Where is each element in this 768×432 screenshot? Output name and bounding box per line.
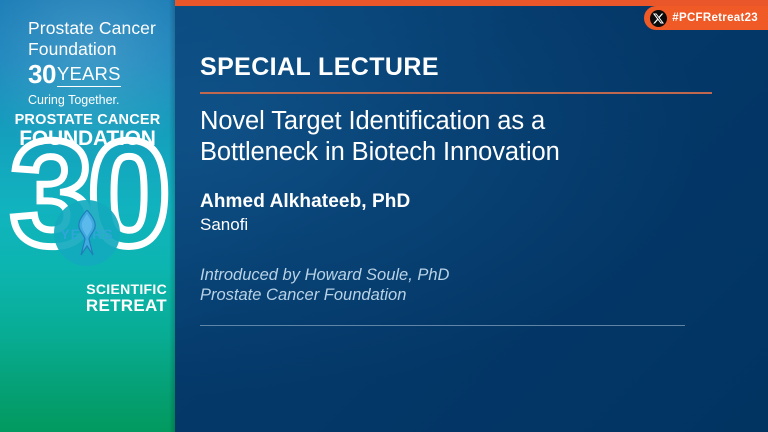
introducer-name: Introduced by Howard Soule, PhD <box>200 265 449 285</box>
pcf-anniversary-number: 30 <box>28 61 56 87</box>
pcf-anniversary: 30 YEARS <box>28 61 168 87</box>
session-type-label: SPECIAL LECTURE <box>200 53 439 82</box>
pcf-wordmark: Prostate Cancer Foundation 30 YEARS Curi… <box>28 18 168 108</box>
retreat-lockup: PROSTATE CANCER FOUNDATION 30 YEARS SCIE… <box>0 112 175 317</box>
awareness-ribbon-badge: YEARS <box>54 200 120 266</box>
retreat-anniversary-graphic: 30 YEARS <box>6 140 169 290</box>
hashtag-badge[interactable]: #PCFRetreat23 <box>644 6 768 30</box>
pcf-tagline: Curing Together. <box>28 92 168 108</box>
talk-title-line2: Bottleneck in Biotech Innovation <box>200 137 670 168</box>
slide-content: SPECIAL LECTURE Novel Target Identificat… <box>200 0 740 432</box>
introducer-block: Introduced by Howard Soule, PhD Prostate… <box>200 265 449 305</box>
brand-panel: Prostate Cancer Foundation 30 YEARS Curi… <box>0 0 175 432</box>
talk-title-line1: Novel Target Identification as a <box>200 106 670 137</box>
talk-title: Novel Target Identification as a Bottlen… <box>200 106 670 168</box>
kicker-divider <box>200 92 712 94</box>
retreat-event-name: SCIENTIFIC RETREAT <box>86 282 167 315</box>
pcf-wordmark-line2: Foundation <box>28 39 168 60</box>
pcf-anniversary-unit: YEARS <box>57 64 121 87</box>
content-divider <box>200 325 685 326</box>
speaker-name: Ahmed Alkhateeb, PhD <box>200 190 410 214</box>
awareness-ribbon-icon <box>74 210 100 256</box>
hashtag-label: #PCFRetreat23 <box>672 12 758 24</box>
introducer-organization: Prostate Cancer Foundation <box>200 285 449 305</box>
x-twitter-icon <box>650 10 667 27</box>
retreat-event-line1: SCIENTIFIC <box>86 282 167 297</box>
retreat-event-line2: RETREAT <box>86 297 167 315</box>
presentation-slide: Prostate Cancer Foundation 30 YEARS Curi… <box>0 0 768 432</box>
pcf-wordmark-line1: Prostate Cancer <box>28 18 168 39</box>
speaker-organization: Sanofi <box>200 214 248 236</box>
